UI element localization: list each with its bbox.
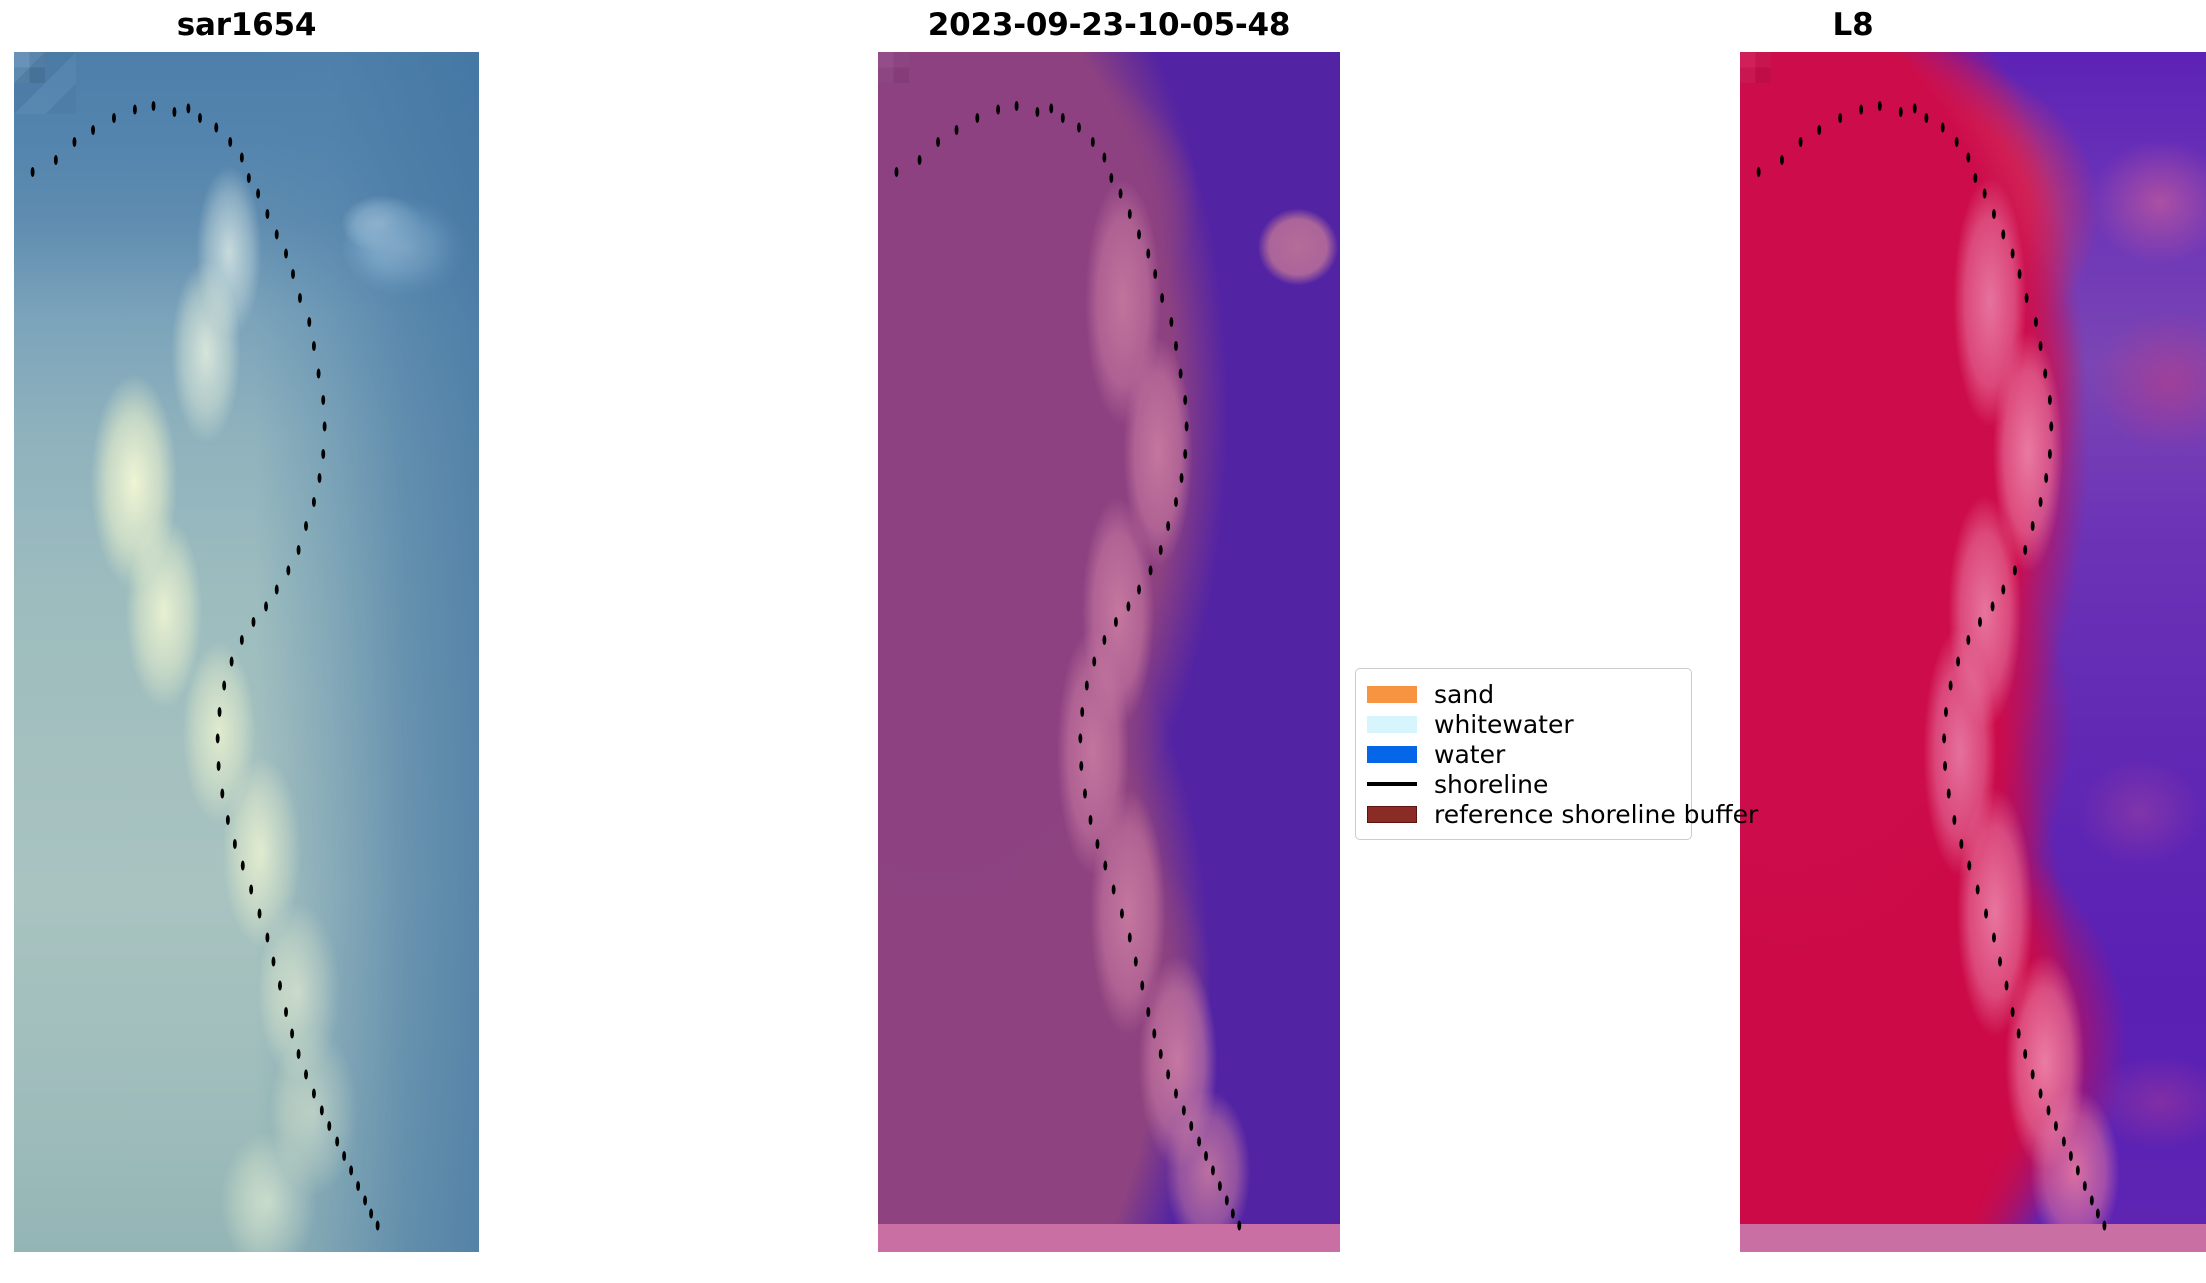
shoreline-dots-l8 [1740,52,2206,1252]
legend-label-shoreline: shoreline [1434,772,1548,797]
legend-swatch-shoreline [1367,782,1417,786]
legend-label-water: water [1434,742,1505,767]
figure-canvas: sar1654 2023-09-23-10-05-48 [0,0,2206,1283]
legend-swatch-sand [1367,686,1417,703]
legend-swatch-water [1367,746,1417,763]
axes-sar1654[interactable] [14,52,479,1252]
panel-timestamp: 2023-09-23-10-05-48 [878,0,1340,1255]
legend-swatch-whitewater [1367,716,1417,733]
axes-l8[interactable] [1740,52,2206,1252]
axes-timestamp[interactable] [878,52,1340,1252]
shoreline-overlay-timestamp [878,52,1340,1252]
panel-title-l8: L8 [1620,7,2086,43]
legend-label-sand: sand [1434,682,1494,707]
legend-label-whitewater: whitewater [1434,712,1574,737]
shoreline-dots-timestamp [878,52,1340,1252]
shoreline-dots-sar [14,52,479,1252]
legend-row-sand: sand [1367,679,1679,709]
legend-row-reference-buffer: reference shoreline buffer [1367,799,1679,829]
shoreline-overlay-sar [14,52,479,1252]
legend-label-reference-buffer: reference shoreline buffer [1434,802,1758,827]
legend-row-whitewater: whitewater [1367,709,1679,739]
legend-row-shoreline: shoreline [1367,769,1679,799]
panel-l8: L8 [1740,0,2206,1255]
shoreline-overlay-l8 [1740,52,2206,1252]
panel-sar1654: sar1654 [14,0,479,1255]
legend-row-water: water [1367,739,1679,769]
panel-title-timestamp: 2023-09-23-10-05-48 [878,7,1340,43]
legend-box: sand whitewater water shoreline referenc… [1355,668,1692,840]
legend-swatch-reference-buffer [1367,806,1417,823]
panel-title-sar1654: sar1654 [14,7,479,43]
